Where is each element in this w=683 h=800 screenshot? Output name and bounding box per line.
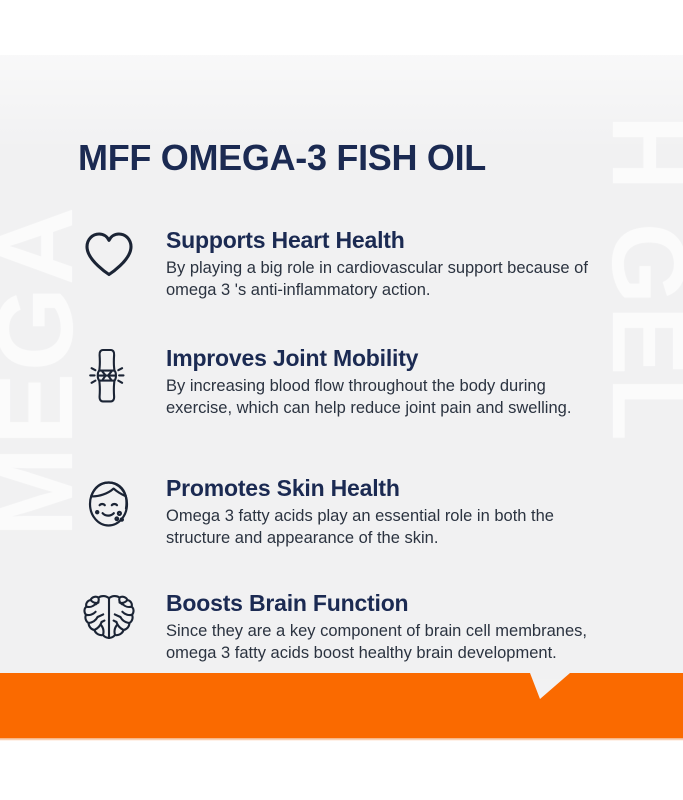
benefit-body: By increasing blood flow throughout the … xyxy=(166,376,596,419)
benefit-body: By playing a big role in cardiovascular … xyxy=(166,258,596,301)
benefit-body: Omega 3 fatty acids play an essential ro… xyxy=(166,506,596,549)
benefit-item-joint: Improves Joint Mobility By increasing bl… xyxy=(78,343,623,419)
band-bottom-shadow xyxy=(0,738,683,741)
benefit-body: Since they are a key component of brain … xyxy=(166,621,596,664)
benefit-heading: Boosts Brain Function xyxy=(166,588,623,618)
benefit-heading: Supports Heart Health xyxy=(166,225,623,255)
benefit-text-brain: Boosts Brain Function Since they are a k… xyxy=(166,588,623,664)
heart-icon xyxy=(78,229,140,293)
benefit-text-joint: Improves Joint Mobility By increasing bl… xyxy=(166,343,623,419)
content-card: MEGA H GEL MFF OMEGA-3 FISH OIL Supports… xyxy=(0,55,683,740)
page-title: MFF OMEGA-3 FISH OIL xyxy=(78,137,486,179)
watermark-left-text: MEGA xyxy=(0,205,87,537)
brain-icon xyxy=(78,592,140,656)
benefit-heading: Promotes Skin Health xyxy=(166,473,623,503)
benefit-item-brain: Boosts Brain Function Since they are a k… xyxy=(78,588,623,664)
benefit-text-heart: Supports Heart Health By playing a big r… xyxy=(166,225,623,301)
benefit-item-skin: Promotes Skin Health Omega 3 fatty acids… xyxy=(78,473,623,549)
benefit-item-heart: Supports Heart Health By playing a big r… xyxy=(78,225,623,301)
face-skin-icon xyxy=(78,477,140,541)
knee-joint-icon xyxy=(78,347,140,411)
benefit-heading: Improves Joint Mobility xyxy=(166,343,623,373)
orange-footer-band xyxy=(0,673,683,738)
benefit-text-skin: Promotes Skin Health Omega 3 fatty acids… xyxy=(166,473,623,549)
infographic-canvas: MEGA H GEL MFF OMEGA-3 FISH OIL Supports… xyxy=(0,0,683,800)
